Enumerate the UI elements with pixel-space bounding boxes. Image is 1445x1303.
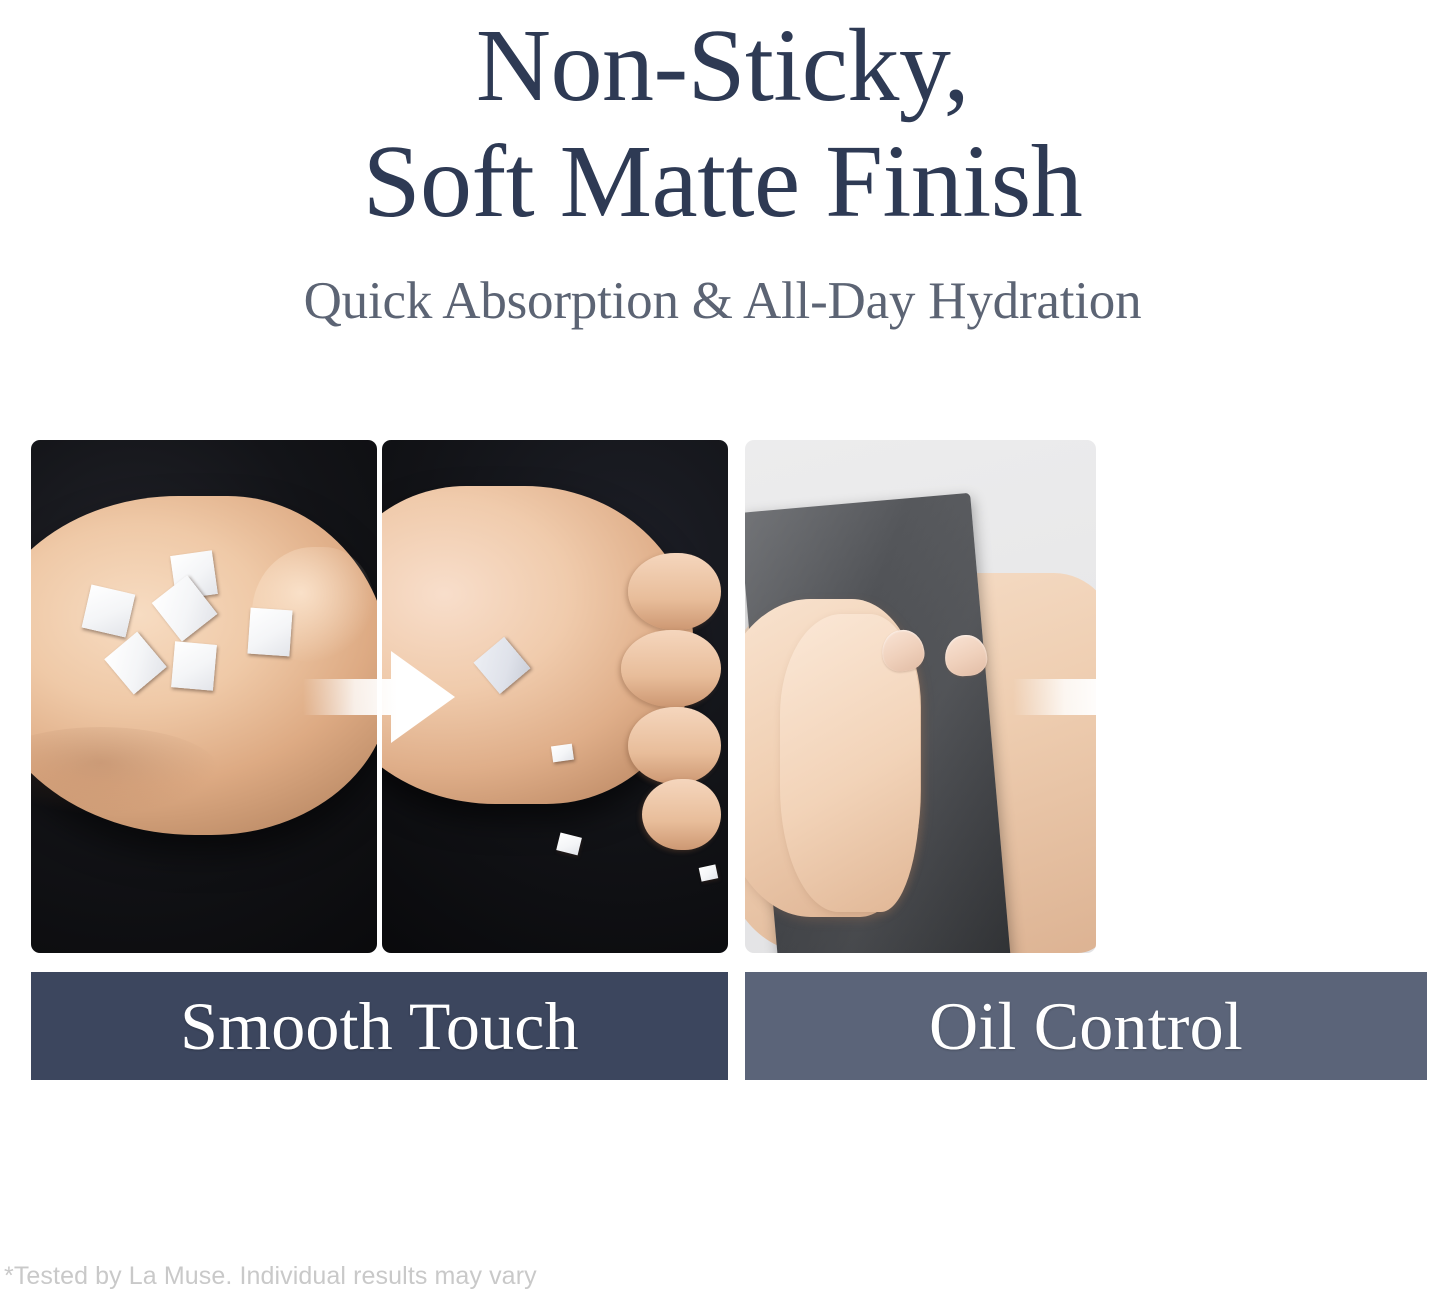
flake-square-falling [550, 744, 573, 763]
demo-panel-grid [31, 440, 1427, 953]
flake-square-falling [557, 833, 583, 856]
demo-group-oil-control [745, 440, 1427, 953]
photo-smooth-after [382, 440, 728, 953]
wrist-shadow [31, 727, 219, 815]
finger-shape [628, 553, 721, 630]
finger-shape [628, 707, 721, 784]
header: Non-Sticky, Soft Matte Finish Quick Abso… [0, 0, 1445, 331]
disclaimer-footnote: *Tested by La Muse. Individual results m… [4, 1262, 537, 1291]
photo-smooth-before [31, 440, 377, 953]
flake-square [171, 641, 216, 691]
page-title: Non-Sticky, Soft Matte Finish [0, 0, 1445, 241]
finger-shape [642, 779, 722, 851]
page-subtitle: Quick Absorption & All-Day Hydration [0, 241, 1445, 331]
caption-bar-row: Smooth Touch Oil Control [31, 972, 1427, 1080]
demo-group-smooth-touch [31, 440, 728, 953]
finger-shape [621, 630, 721, 707]
photo-oil-before [745, 440, 1096, 953]
caption-oil-control: Oil Control [745, 972, 1427, 1080]
caption-smooth-touch: Smooth Touch [31, 972, 728, 1080]
flake-square-falling [699, 864, 719, 882]
flake-square [247, 608, 292, 657]
